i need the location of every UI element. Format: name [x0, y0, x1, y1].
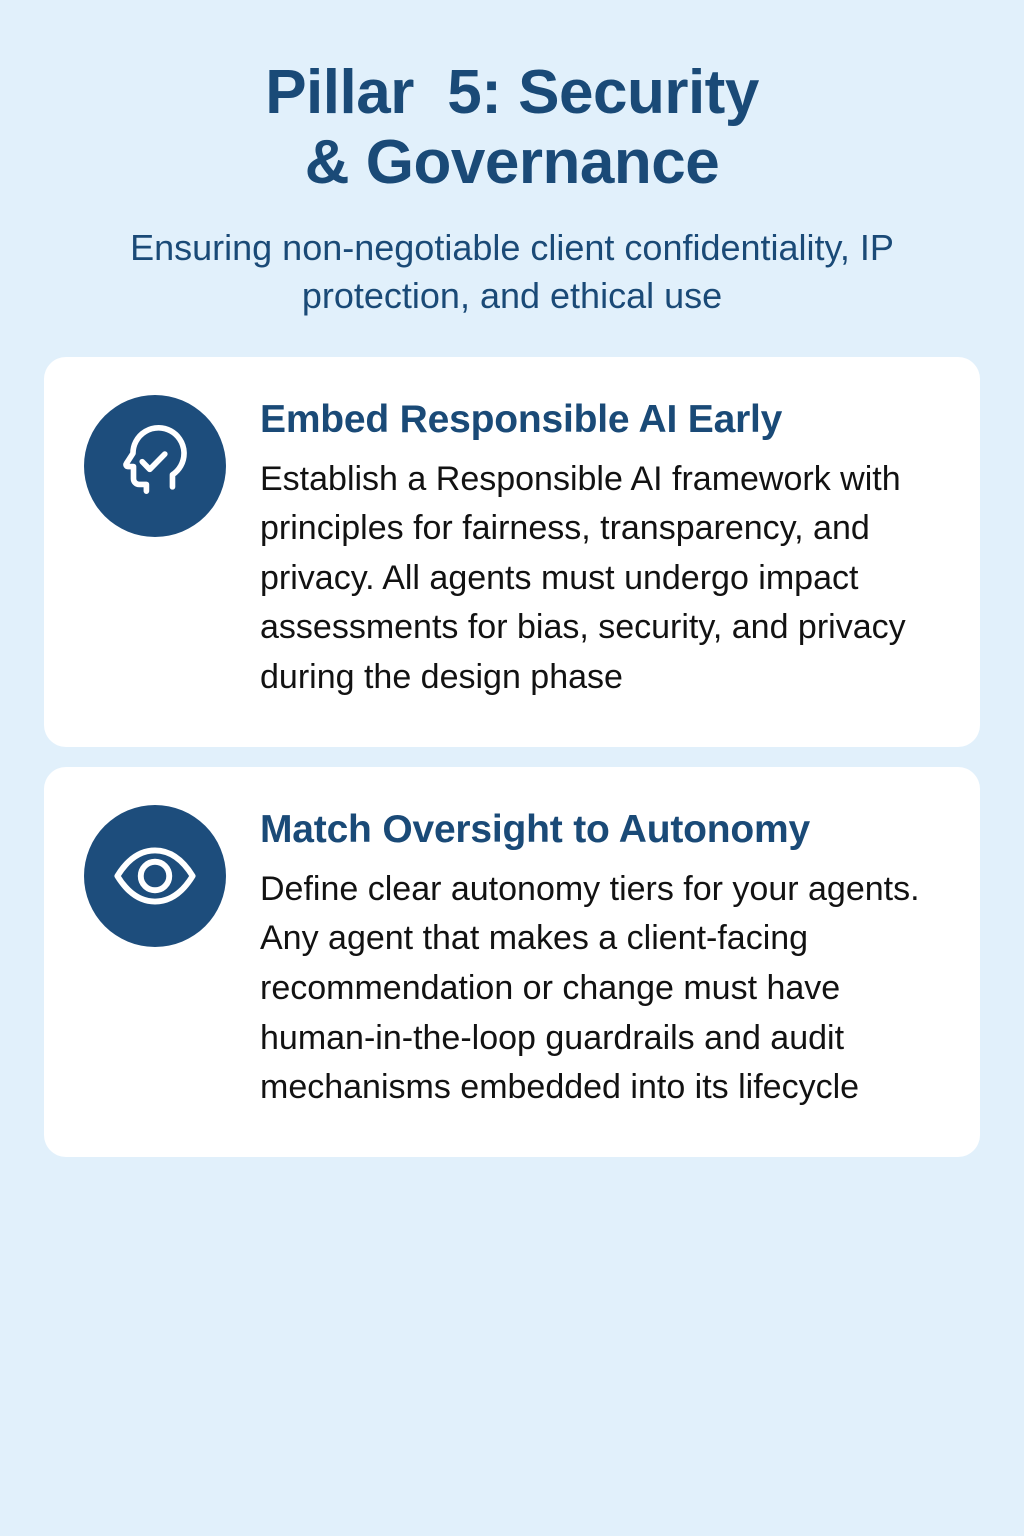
card-match-oversight-to-autonomy[interactable]: Match Oversight to Autonomy Define clear… [44, 767, 980, 1157]
eye-icon [84, 805, 226, 947]
card-heading: Match Oversight to Autonomy [260, 807, 940, 853]
page-subtitle: Ensuring non-negotiable client confident… [107, 224, 917, 320]
card-embed-responsible-ai-early[interactable]: Embed Responsible AI Early Establish a R… [44, 357, 980, 747]
card-heading: Embed Responsible AI Early [260, 397, 940, 443]
card-list: Embed Responsible AI Early Establish a R… [44, 357, 980, 1157]
infographic-page: Pillar 5: Security & Governance Ensuring… [0, 0, 1024, 1536]
card-text: Establish a Responsible AI framework wit… [260, 455, 940, 703]
header: Pillar 5: Security & Governance Ensuring… [44, 0, 980, 321]
card-text: Define clear autonomy tiers for your age… [260, 865, 940, 1113]
card-body: Embed Responsible AI Early Establish a R… [260, 395, 940, 703]
page-title: Pillar 5: Security & Governance [44, 58, 980, 198]
card-body: Match Oversight to Autonomy Define clear… [260, 805, 940, 1113]
head-check-icon [84, 395, 226, 537]
